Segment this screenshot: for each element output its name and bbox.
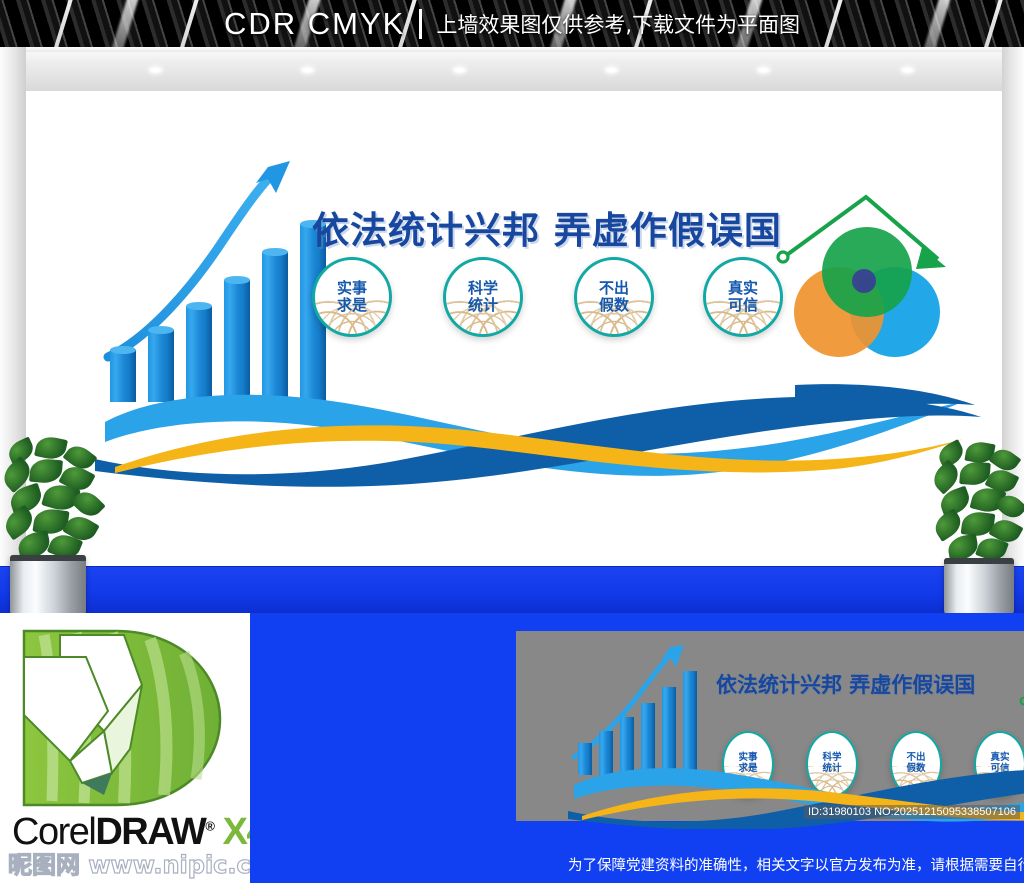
cdr-format-label: CDR CMYK — [224, 6, 405, 42]
potted-plant-right — [932, 442, 1024, 614]
badge-line-1: 真实 — [728, 280, 758, 297]
preview-panel: 依法统计兴邦 弄虚作假误国 实事 求是 科学 统计 — [250, 613, 1024, 883]
wall-artwork-hero: 依法统计兴邦 弄虚作假误国 实事 求是 科学 统计 不出 — [0, 47, 1024, 567]
asset-id-tag: ID:31980103 NO:20251215095338507106 — [804, 805, 1020, 819]
badge-line-1: 不出 — [599, 280, 629, 297]
badge-buchu-jiashu: 不出 假数 — [574, 257, 654, 337]
badge-kexue-tongji: 科学 统计 — [443, 257, 523, 337]
thumb-badge-3: 不出 假数 — [890, 731, 942, 797]
bottom-section: CorelDRAW® X4 昵图网 www.nipic.com — [0, 613, 1024, 883]
badge-zhenshi-kexin: 真实 可信 — [703, 257, 783, 337]
thumb-badge-line-2: 统计 — [822, 764, 841, 775]
vertical-divider-icon — [419, 9, 422, 39]
flat-design-thumbnail: 依法统计兴邦 弄虚作假误国 实事 求是 科学 统计 — [516, 631, 1024, 821]
venn-diagram — [790, 227, 950, 357]
thumb-badge-4: 真实 可信 — [974, 731, 1024, 797]
thumb-badge-line-2: 假数 — [906, 764, 925, 775]
plant-pot — [10, 555, 86, 617]
bottom-disclaimer-text: 为了保障党建资料的准确性，相关文字以官方发布为准，请根据需要自行至管网获取，谢谢… — [500, 854, 1024, 875]
room-mockup-scene: 依法统计兴邦 弄虚作假误国 实事 求是 科学 统计 不出 — [0, 47, 1024, 613]
ribbon-waves — [95, 367, 995, 487]
floor-band — [0, 567, 1024, 613]
venn-core-overlap — [852, 269, 876, 293]
thumb-title: 依法统计兴邦 弄虚作假误国 — [716, 669, 975, 699]
top-banner: CDR CMYK 上墙效果图仅供参考,下载文件为平面图 — [0, 0, 1024, 47]
site-watermark: 昵图网 www.nipic.com — [8, 845, 258, 880]
page-title: 依法统计兴邦 弄虚作假误国 — [312, 200, 782, 254]
badge-line-2: 可信 — [728, 297, 758, 314]
screenshot-root: CDR CMYK 上墙效果图仅供参考,下载文件为平面图 — [0, 0, 1024, 883]
badge-line-2: 统计 — [468, 297, 498, 314]
badge-line-1: 科学 — [468, 280, 498, 297]
potted-plant-left — [0, 437, 110, 613]
thumb-badge-line-2: 可信 — [990, 764, 1009, 775]
thumb-badge-line-2: 求是 — [738, 764, 757, 775]
badge-line-1: 实事 — [337, 280, 367, 297]
registered-icon: ® — [205, 818, 213, 833]
preview-disclaimer-text: 上墙效果图仅供参考,下载文件为平面图 — [436, 9, 800, 39]
coreldraw-logo: CorelDRAW® X4 昵图网 www.nipic.com — [8, 623, 248, 863]
thumb-badge-2: 科学 统计 — [806, 731, 858, 797]
plant-pot — [944, 558, 1014, 616]
badge-shishi-qiushi: 实事 求是 — [312, 257, 392, 337]
thumb-badge-1: 实事 求是 — [722, 731, 774, 797]
badge-line-2: 求是 — [337, 297, 367, 314]
badge-line-2: 假数 — [599, 297, 629, 314]
coreldraw-pen-icon — [8, 623, 248, 813]
thumb-peak-arrow-icon — [1016, 653, 1024, 715]
